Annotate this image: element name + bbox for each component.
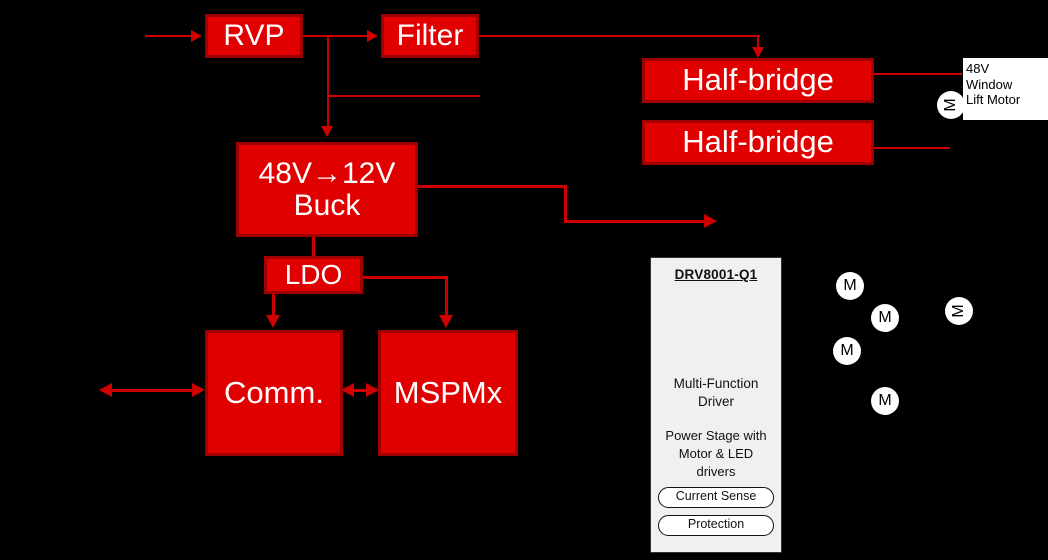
connector-hb2-output xyxy=(874,147,950,149)
connector-input-to-rvp xyxy=(145,35,193,37)
block-mspmx-label: MSPMx xyxy=(394,377,503,410)
motor-icon-label: M xyxy=(878,392,891,410)
connector-filter-bus-top xyxy=(479,35,760,37)
block-half-bridge-2[interactable]: Half-bridge xyxy=(642,120,874,165)
drv-panel-title: DRV8001-Q1 xyxy=(651,267,781,282)
connector-filter-branch-horizontal xyxy=(327,95,480,97)
block-diagram-canvas: RVP Filter Half-bridge Half-bridge 48V→1… xyxy=(0,0,1048,560)
motor-icon-label: M xyxy=(942,98,960,111)
badge-current-sense[interactable]: Current Sense xyxy=(658,487,774,508)
arrowhead-buck-output xyxy=(704,214,717,228)
drv-panel-role-line1: Multi-Function xyxy=(651,375,781,393)
motor-caption: 48V Window Lift Motor xyxy=(963,58,1048,120)
motor-icon-2: M xyxy=(871,304,899,332)
drv-panel-desc-line1: Power Stage with xyxy=(651,427,781,445)
connector-filter-branch-vertical xyxy=(327,35,329,97)
motor-icon-3: M xyxy=(833,337,861,365)
block-half-bridge-1[interactable]: Half-bridge xyxy=(642,58,874,103)
block-filter-label: Filter xyxy=(397,20,464,52)
arrowhead-filter-to-hb1 xyxy=(752,47,764,58)
arrowhead-input-to-rvp xyxy=(191,30,202,42)
motor-icon-label: M xyxy=(843,277,856,295)
motor-icon-1: M xyxy=(836,272,864,300)
connector-hb1-to-motor xyxy=(874,73,962,75)
block-half-bridge-1-label: Half-bridge xyxy=(682,64,834,97)
motor-icon-window-lift: M xyxy=(937,91,965,119)
connector-buck-to-ldo xyxy=(312,237,315,258)
block-buck-converter[interactable]: 48V→12V Buck xyxy=(236,142,418,237)
connector-branch-down-to-buck xyxy=(327,95,329,129)
connector-rvp-to-filter xyxy=(303,35,369,37)
connector-buck-output-bottom xyxy=(564,220,706,223)
block-mspmx[interactable]: MSPMx xyxy=(378,330,518,456)
block-filter[interactable]: Filter xyxy=(381,14,479,58)
block-rvp[interactable]: RVP xyxy=(205,14,303,58)
arrowhead-to-buck xyxy=(321,126,333,137)
arrowhead-rvp-to-filter xyxy=(367,30,378,42)
drv-panel-desc-line2: Motor & LED xyxy=(651,445,781,463)
connector-external-to-comm xyxy=(111,389,195,392)
block-buck-label-line2: Buck xyxy=(294,190,361,222)
drv8001-q1-panel[interactable]: DRV8001-Q1 Multi-Function Driver Power S… xyxy=(650,257,782,553)
connector-buck-output-top xyxy=(418,185,567,188)
motor-icon-5: M xyxy=(945,297,973,325)
block-half-bridge-2-label: Half-bridge xyxy=(682,126,834,159)
arrowhead-ldo-to-mspmx xyxy=(439,315,453,328)
arrowhead-comm-to-external xyxy=(99,383,112,397)
motor-icon-4: M xyxy=(871,387,899,415)
drv-panel-role: Multi-Function Driver xyxy=(651,375,781,411)
block-rvp-label: RVP xyxy=(223,20,284,52)
motor-icon-label: M xyxy=(950,304,968,317)
connector-ldo-to-mspmx-vertical xyxy=(445,276,448,318)
motor-icon-label: M xyxy=(878,309,891,327)
block-comm[interactable]: Comm. xyxy=(205,330,343,456)
motor-icon-label: M xyxy=(840,342,853,360)
drv-panel-desc-line3: drivers xyxy=(651,463,781,481)
block-ldo-label: LDO xyxy=(285,260,343,290)
connector-ldo-to-mspmx-horizontal xyxy=(363,276,448,279)
motor-caption-line2: Window xyxy=(966,77,1048,93)
drv-panel-description: Power Stage with Motor & LED drivers xyxy=(651,427,781,480)
motor-caption-line3: Lift Motor xyxy=(966,92,1048,108)
block-buck-label-line1: 48V→12V xyxy=(259,158,396,190)
block-comm-label: Comm. xyxy=(224,377,324,410)
drv-panel-role-line2: Driver xyxy=(651,393,781,411)
arrowhead-external-to-comm xyxy=(192,383,205,397)
badge-protection[interactable]: Protection xyxy=(658,515,774,536)
motor-caption-line1: 48V xyxy=(966,61,1048,77)
arrowhead-ldo-to-comm xyxy=(266,315,280,328)
block-ldo[interactable]: LDO xyxy=(264,256,363,294)
connector-buck-output-step xyxy=(564,185,567,223)
